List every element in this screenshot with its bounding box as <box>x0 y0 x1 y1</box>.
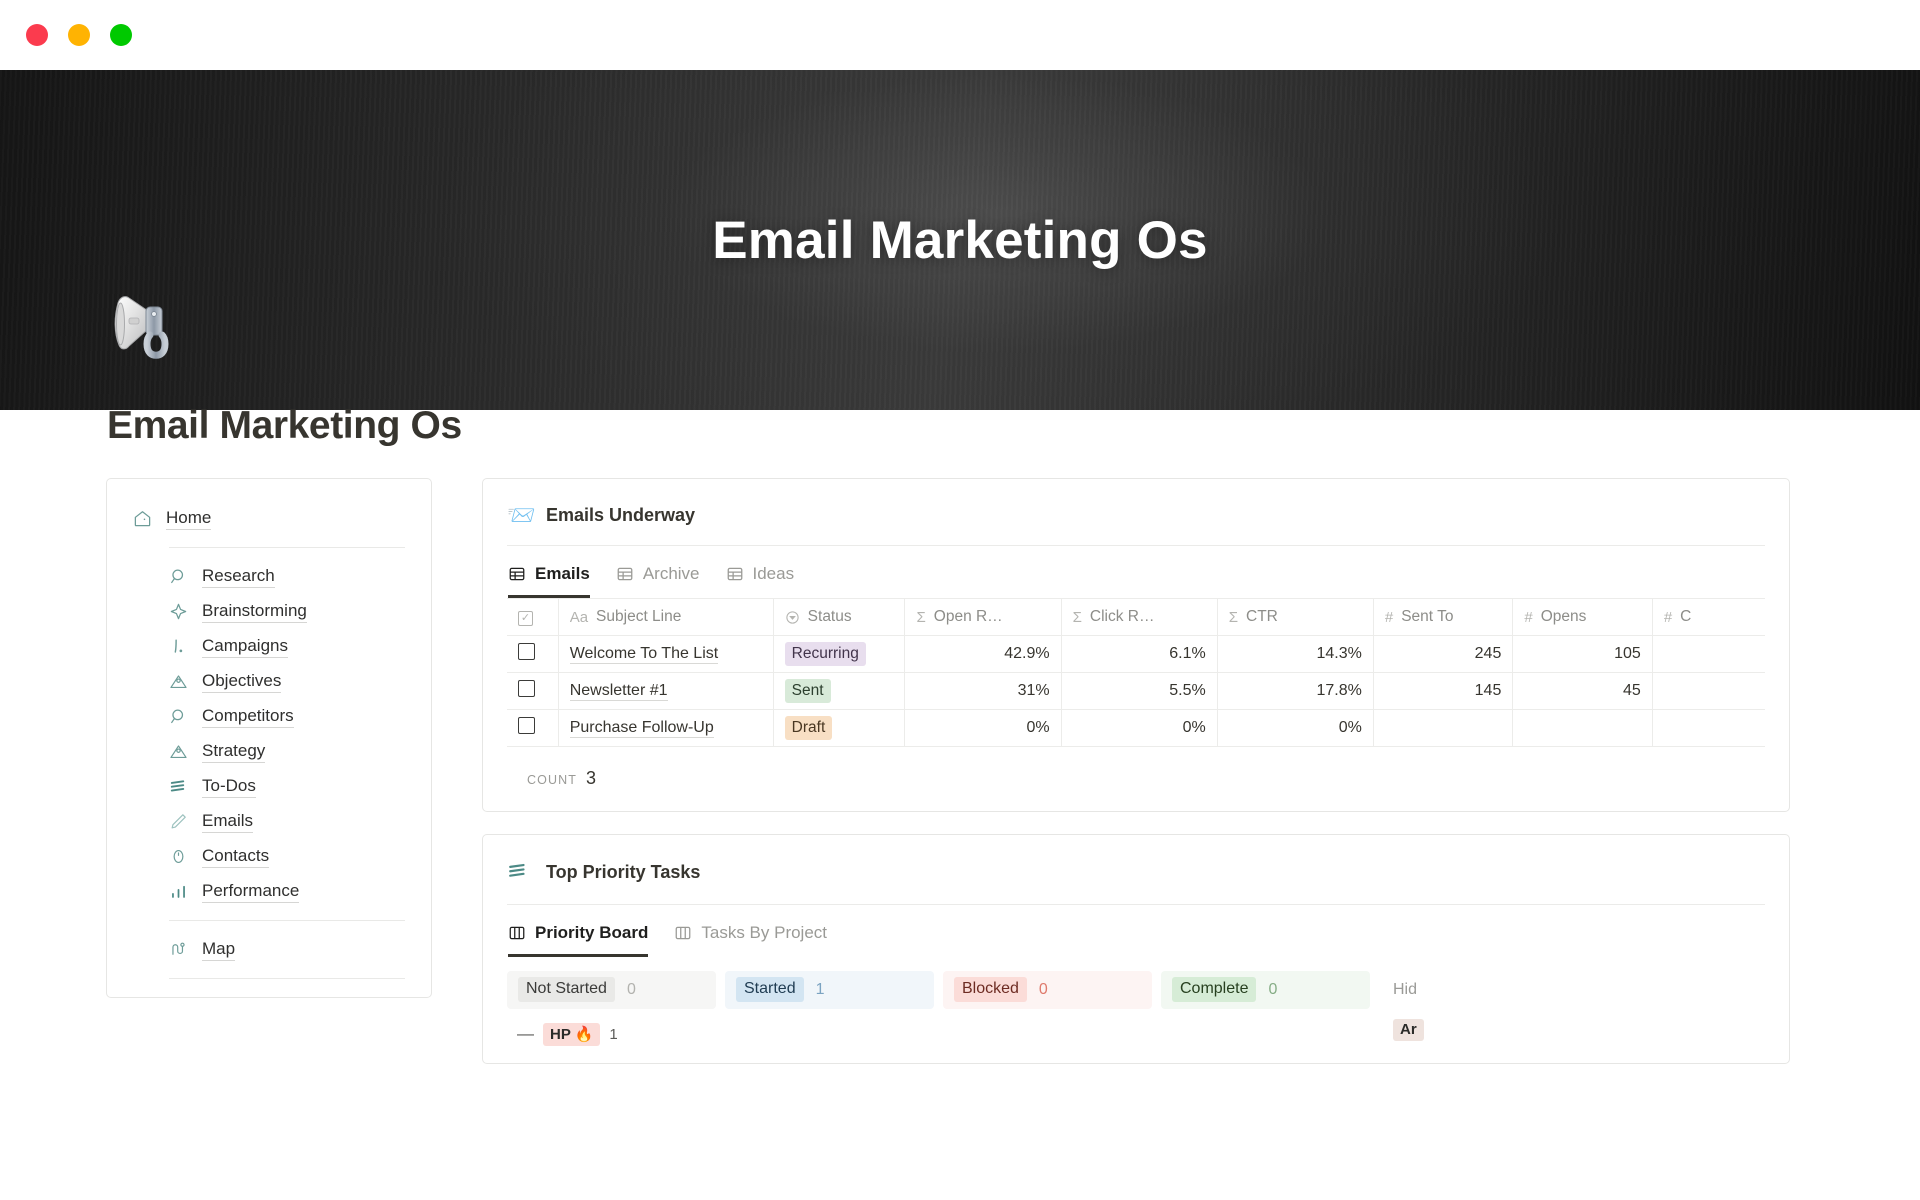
mountain-icon <box>169 742 188 761</box>
cell-clipped[interactable] <box>1652 636 1765 673</box>
cell-sent-to[interactable] <box>1373 710 1512 747</box>
board-hidden-group[interactable]: Hid Ar <box>1379 971 1499 1046</box>
sidebar-item-competitors-label: Competitors <box>202 705 294 729</box>
board-column-not-started[interactable]: Not Started 0 — HP 🔥 1 <box>507 971 725 1046</box>
page-cover-banner: Email Marketing Os <box>0 70 1920 410</box>
column-header-opens[interactable]: # Opens <box>1513 599 1652 636</box>
close-window-button[interactable] <box>26 24 48 46</box>
column-header-clipped[interactable]: # C <box>1652 599 1765 636</box>
column-header-clipped-label: C <box>1680 608 1691 626</box>
mountain-icon <box>169 672 188 691</box>
column-header-ctr-label: CTR <box>1246 608 1278 626</box>
card-dash: — <box>517 1024 534 1044</box>
cell-click-rate: 0% <box>1061 710 1217 747</box>
emails-view-tabs: Emails Archive Ideas <box>507 546 1765 598</box>
column-header-click-rate[interactable]: Σ Click R… <box>1061 599 1217 636</box>
sidebar-item-performance[interactable]: Performance <box>133 874 405 909</box>
status-badge: Recurring <box>785 642 866 666</box>
board-column-count: 1 <box>816 981 825 999</box>
board-column-label: Started <box>736 977 804 1002</box>
tab-priority-board[interactable]: Priority Board <box>508 923 648 957</box>
sparkle-icon <box>169 602 188 621</box>
column-header-status-label: Status <box>808 608 852 626</box>
sidebar-item-map[interactable]: Map <box>133 932 405 967</box>
emails-underway-panel: 📨 Emails Underway Emails Archive <box>482 478 1790 812</box>
row-checkbox[interactable] <box>518 680 535 697</box>
page-title: Email Marketing Os <box>107 404 462 448</box>
maximize-window-button[interactable] <box>110 24 132 46</box>
column-header-open-rate-label: Open R… <box>934 608 1003 626</box>
sidebar-item-campaigns[interactable]: Campaigns <box>133 629 405 664</box>
sidebar-item-campaigns-label: Campaigns <box>202 635 288 659</box>
status-badge: Sent <box>785 679 831 703</box>
sidebar-item-competitors[interactable]: Competitors <box>133 699 405 734</box>
emails-panel-title: Emails Underway <box>546 505 695 526</box>
incoming-envelope-icon: 📨 <box>507 504 533 527</box>
minimize-window-button[interactable] <box>68 24 90 46</box>
formula-type-icon: Σ <box>1229 609 1238 626</box>
sidebar-item-to-dos[interactable]: To-Dos <box>133 769 405 804</box>
cell-subject[interactable]: Welcome To The List <box>558 636 773 673</box>
stack-icon <box>169 777 188 796</box>
board-column-count: 0 <box>627 981 636 999</box>
sidebar-item-research[interactable]: Research <box>133 559 405 594</box>
route-icon <box>169 940 188 959</box>
cell-clipped[interactable] <box>1652 710 1765 747</box>
text-type-icon: Aa <box>570 609 588 626</box>
sidebar-item-brainstorming[interactable]: Brainstorming <box>133 594 405 629</box>
hidden-group-label: Hid <box>1393 971 1499 1009</box>
number-type-icon: # <box>1664 609 1672 626</box>
row-checkbox[interactable] <box>518 643 535 660</box>
sidebar-item-map-label: Map <box>202 938 235 962</box>
formula-type-icon: Σ <box>916 609 925 626</box>
tab-archive-label: Archive <box>643 564 700 584</box>
sidebar-divider-mid <box>169 920 405 921</box>
cell-sent-to[interactable]: 145 <box>1373 673 1512 710</box>
select-type-icon <box>785 610 800 625</box>
priority-badge: HP 🔥 <box>543 1023 600 1046</box>
archived-badge: Ar <box>1393 1019 1424 1041</box>
tab-tasks-by-project[interactable]: Tasks By Project <box>674 923 827 957</box>
sidebar-item-strategy[interactable]: Strategy <box>133 734 405 769</box>
board-column-label: Complete <box>1172 977 1256 1002</box>
sidebar-item-emails-label: Emails <box>202 810 253 834</box>
row-count-summary: COUNT 3 <box>507 751 1765 793</box>
formula-type-icon: Σ <box>1073 609 1082 626</box>
sidebar-item-contacts[interactable]: Contacts <box>133 839 405 874</box>
sidebar-divider-bottom <box>169 978 405 979</box>
emails-table: ✓ Aa Subject Line Status <box>507 598 1765 751</box>
column-header-select[interactable]: ✓ <box>507 599 558 636</box>
traffic-lights <box>26 24 132 46</box>
table-row[interactable]: Newsletter #1 Sent 31% 5.5% 17.8% 145 45 <box>507 673 1765 710</box>
board-column-complete[interactable]: Complete 0 <box>1161 971 1379 1046</box>
board-column-label: Not Started <box>518 977 615 1002</box>
row-checkbox-cell[interactable] <box>507 636 558 673</box>
status-badge: Draft <box>785 716 833 740</box>
board-column-count: 0 <box>1039 981 1048 999</box>
select-all-checkbox[interactable]: ✓ <box>518 611 533 626</box>
emails-panel-header: 📨 Emails Underway <box>507 499 1765 546</box>
sidebar-item-objectives-label: Objectives <box>202 670 281 694</box>
flag-icon <box>169 637 188 656</box>
cell-subject[interactable]: Purchase Follow-Up <box>558 710 773 747</box>
tab-ideas[interactable]: Ideas <box>726 564 795 598</box>
tab-emails[interactable]: Emails <box>508 564 590 598</box>
sidebar-item-objectives[interactable]: Objectives <box>133 664 405 699</box>
window-titlebar <box>0 0 1920 70</box>
bar-chart-icon <box>169 882 188 901</box>
column-header-subject[interactable]: Aa Subject Line <box>558 599 773 636</box>
row-checkbox[interactable] <box>518 717 535 734</box>
cell-open-rate: 0% <box>905 710 1061 747</box>
stack-icon <box>507 860 533 886</box>
sidebar-item-research-label: Research <box>202 565 275 589</box>
card-number: 1 <box>609 1026 617 1043</box>
sidebar-item-home[interactable]: Home <box>133 501 405 536</box>
cell-ctr: 0% <box>1217 710 1373 747</box>
top-priority-tasks-panel: Top Priority Tasks Priority Board Tasks … <box>482 834 1790 1064</box>
megaphone-icon[interactable] <box>112 281 198 367</box>
cell-click-rate: 5.5% <box>1061 673 1217 710</box>
cell-opens[interactable]: 105 <box>1513 636 1652 673</box>
cell-open-rate: 42.9% <box>905 636 1061 673</box>
cell-sent-to[interactable]: 245 <box>1373 636 1512 673</box>
column-header-sent-to-label: Sent To <box>1401 608 1453 626</box>
board-column-label: Blocked <box>954 977 1027 1002</box>
table-row[interactable]: Welcome To The List Recurring 42.9% 6.1%… <box>507 636 1765 673</box>
cell-opens[interactable]: 45 <box>1513 673 1652 710</box>
sidebar-item-strategy-label: Strategy <box>202 740 265 764</box>
sidebar-item-contacts-label: Contacts <box>202 845 269 869</box>
board-column-blocked[interactable]: Blocked 0 <box>943 971 1161 1046</box>
tab-emails-label: Emails <box>535 564 590 584</box>
sidebar-item-to-dos-label: To-Dos <box>202 775 256 799</box>
table-row[interactable]: Purchase Follow-Up Draft 0% 0% 0% <box>507 710 1765 747</box>
tab-tasks-by-project-label: Tasks By Project <box>701 923 827 943</box>
cell-opens[interactable] <box>1513 710 1652 747</box>
tasks-panel-header: Top Priority Tasks <box>507 855 1765 905</box>
tasks-panel-title: Top Priority Tasks <box>546 862 700 883</box>
count-value: 3 <box>586 768 596 789</box>
tab-priority-board-label: Priority Board <box>535 923 648 943</box>
tab-archive[interactable]: Archive <box>616 564 700 598</box>
count-label: COUNT <box>527 773 577 787</box>
number-type-icon: # <box>1524 609 1532 626</box>
sidebar-divider-top <box>169 547 405 548</box>
cell-status[interactable]: Sent <box>773 673 905 710</box>
priority-board: Not Started 0 — HP 🔥 1 Started 1 <box>507 957 1765 1046</box>
board-column-started[interactable]: Started 1 <box>725 971 943 1046</box>
cell-open-rate: 31% <box>905 673 1061 710</box>
row-checkbox-cell[interactable] <box>507 673 558 710</box>
cell-clipped[interactable] <box>1652 673 1765 710</box>
home-icon <box>133 509 152 528</box>
column-header-status[interactable]: Status <box>773 599 905 636</box>
column-header-ctr[interactable]: Σ CTR <box>1217 599 1373 636</box>
cell-status[interactable]: Draft <box>773 710 905 747</box>
sidebar-item-performance-label: Performance <box>202 880 299 904</box>
main-column: 📨 Emails Underway Emails Archive <box>482 478 1790 1086</box>
cell-click-rate: 6.1% <box>1061 636 1217 673</box>
tasks-view-tabs: Priority Board Tasks By Project <box>507 905 1765 957</box>
board-card-stub[interactable]: — HP 🔥 1 <box>507 1023 716 1046</box>
table-header-row: ✓ Aa Subject Line Status <box>507 599 1765 636</box>
sidebar-item-emails[interactable]: Emails <box>133 804 405 839</box>
column-header-opens-label: Opens <box>1541 608 1587 626</box>
column-header-subject-label: Subject Line <box>596 608 681 626</box>
column-header-sent-to[interactable]: # Sent To <box>1373 599 1512 636</box>
sidebar-nav-card: Home Research Brainstorming <box>106 478 432 998</box>
tab-ideas-label: Ideas <box>753 564 795 584</box>
cell-status[interactable]: Recurring <box>773 636 905 673</box>
board-column-count: 0 <box>1268 981 1277 999</box>
column-header-open-rate[interactable]: Σ Open R… <box>905 599 1061 636</box>
magnifier-icon <box>169 567 188 586</box>
cell-ctr: 17.8% <box>1217 673 1373 710</box>
column-header-click-rate-label: Click R… <box>1090 608 1155 626</box>
sidebar-item-home-label: Home <box>166 507 211 531</box>
cell-subject[interactable]: Newsletter #1 <box>558 673 773 710</box>
row-checkbox-cell[interactable] <box>507 710 558 747</box>
pencil-icon <box>169 812 188 831</box>
sidebar-item-brainstorming-label: Brainstorming <box>202 600 307 624</box>
number-type-icon: # <box>1385 609 1393 626</box>
magnifier-icon <box>169 707 188 726</box>
cell-ctr: 14.3% <box>1217 636 1373 673</box>
person-icon <box>169 847 188 866</box>
banner-title: Email Marketing Os <box>0 70 1920 410</box>
